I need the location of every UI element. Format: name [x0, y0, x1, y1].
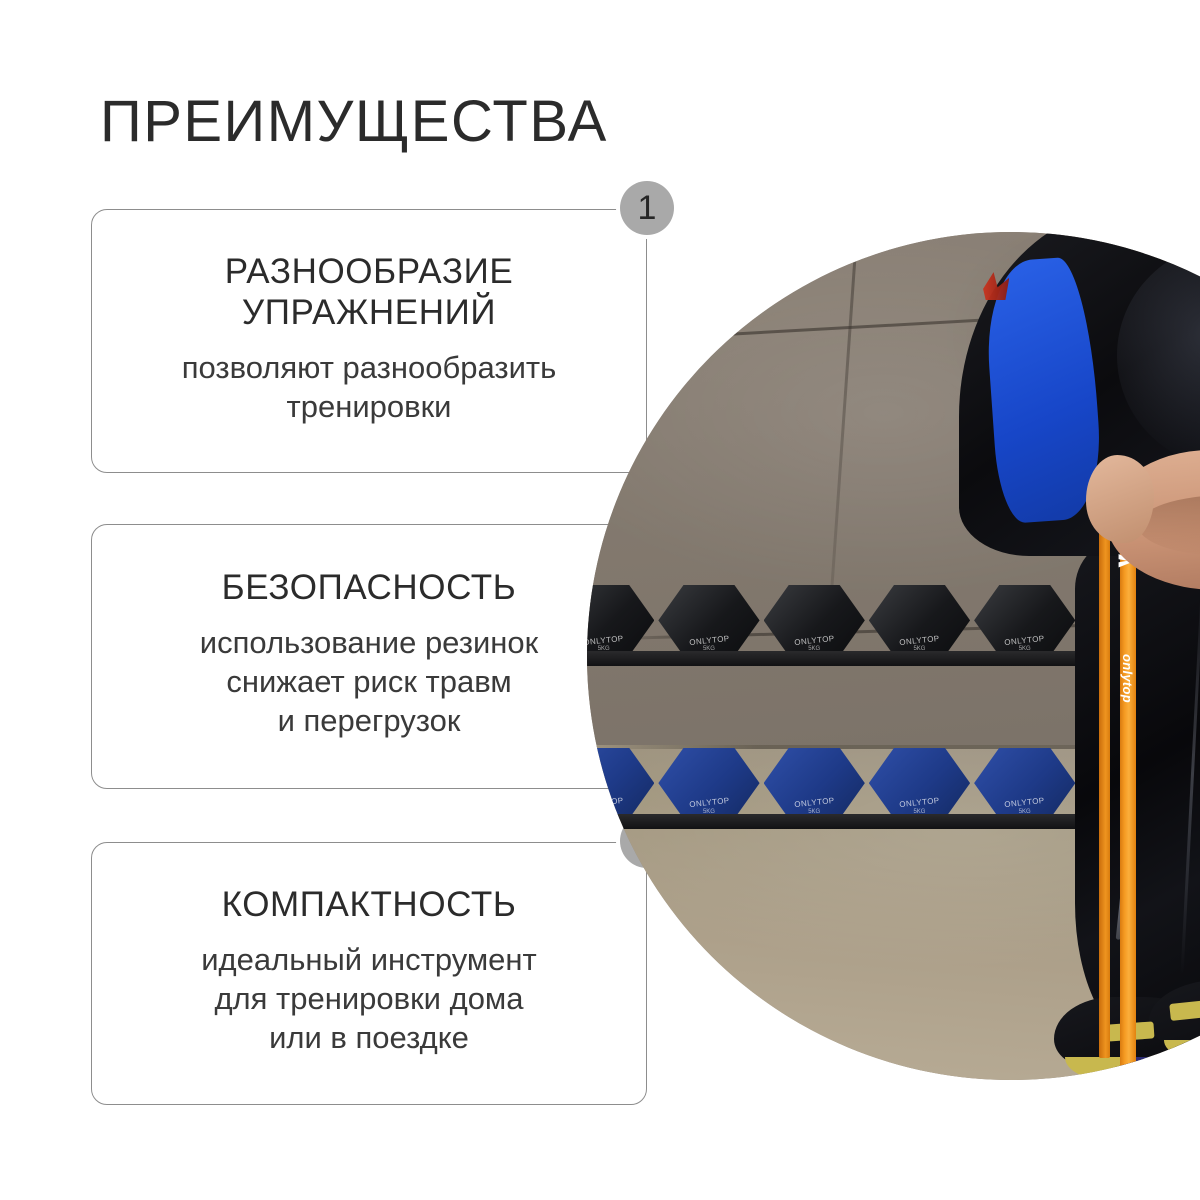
benefit-card-1-heading: РАЗНООБРАЗИЕ УПРАЖНЕНИЙ — [225, 252, 514, 334]
athlete-hand-grip — [1086, 455, 1154, 542]
page-title: ПРЕИМУЩЕСТВА — [100, 88, 608, 155]
benefit-card-3-heading: КОМПАКТНОСТЬ — [222, 885, 517, 926]
dumbbell-item: ONLYTOP5KG — [658, 585, 759, 656]
dumbbell-item: ONLYTOP5KG — [658, 748, 759, 819]
benefit-card-2: БЕЗОПАСНОСТЬ использование резинок снижа… — [91, 524, 647, 789]
benefit-card-3-body: идеальный инструмент для тренировки дома… — [201, 940, 537, 1057]
dumbbell-item: ONLYTOP5KG — [587, 748, 654, 819]
benefit-card-1-body: позволяют разнообразить тренировки — [182, 348, 557, 426]
infographic-page: ПРЕИМУЩЕСТВА РАЗНООБРАЗИЕ УПРАЖНЕНИЙ поз… — [0, 0, 1200, 1200]
benefit-card-2-body: использование резинок снижает риск травм… — [200, 623, 538, 740]
resistance-band-brand: onlytop — [1119, 573, 1136, 783]
band-brand-text: onlytop — [1120, 654, 1135, 703]
dumbbell-item: ONLYTOP5KG — [764, 585, 865, 656]
dumbbell-item: ONLYTOP5KG — [587, 585, 654, 656]
product-photo: ONLYTOP5KG ONLYTOP5KG ONLYTOP5KG ONLYTOP… — [587, 232, 1200, 1080]
photo-scene: ONLYTOP5KG ONLYTOP5KG ONLYTOP5KG ONLYTOP… — [587, 232, 1200, 1080]
benefit-card-1: РАЗНООБРАЗИЕ УПРАЖНЕНИЙ позволяют разноо… — [91, 209, 647, 473]
athlete-figure: onlytop — [875, 232, 1200, 1080]
dumbbell-item: ONLYTOP5KG — [764, 748, 865, 819]
benefit-card-2-heading: БЕЗОПАСНОСТЬ — [222, 568, 517, 609]
benefit-badge-1: 1 — [620, 181, 674, 235]
benefit-card-3: КОМПАКТНОСТЬ идеальный инструмент для тр… — [91, 842, 647, 1105]
resistance-band-strand-left — [1099, 482, 1110, 1058]
